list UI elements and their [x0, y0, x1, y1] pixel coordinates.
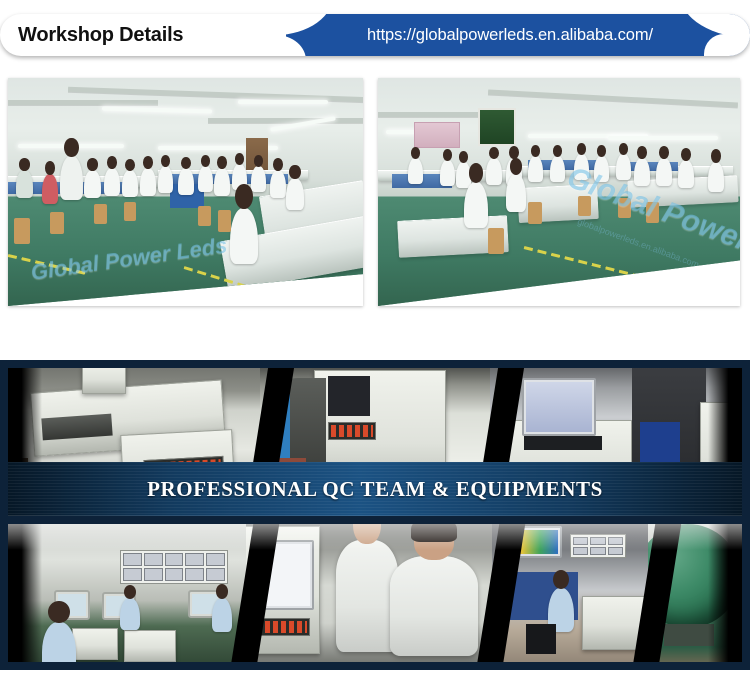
factory-scene-a: Global Power Leds: [8, 78, 363, 306]
store-url-link[interactable]: https://globalpowerleds.en.alibaba.com/: [300, 14, 720, 56]
factory-scene-b: Global Power Leds globalpowerleds.en.ali…: [378, 78, 740, 306]
photo-watermark-a: Global Power Leds: [29, 232, 229, 285]
qc-photo-lab-computers[interactable]: [8, 524, 256, 662]
qc-banner: PROFESSIONAL QC TEAM & EQUIPMENTS: [8, 462, 742, 516]
photo-production-line[interactable]: Global Power Leds: [8, 78, 363, 306]
qc-banner-text: PROFESSIONAL QC TEAM & EQUIPMENTS: [8, 462, 742, 516]
qc-collage-panel: PROFESSIONAL QC TEAM & EQUIPMENTS: [0, 360, 750, 670]
photo-mass-production[interactable]: Global Power Leds globalpowerleds.en.ali…: [378, 78, 740, 306]
workshop-photo-row: Global Power Leds: [0, 78, 750, 348]
collage-left-vignette-bottom: [8, 524, 42, 662]
collage-right-vignette-bottom: [708, 524, 742, 662]
qc-row-lab: [8, 524, 742, 662]
qc-photo-engineers-inspecting[interactable]: [246, 524, 502, 662]
collage-row-divider: [8, 516, 742, 524]
page-header-bar: Workshop Details https://globalpowerleds…: [0, 14, 750, 56]
qc-row-equipment: PROFESSIONAL QC TEAM & EQUIPMENTS: [8, 368, 742, 516]
page-title: Workshop Details: [18, 14, 183, 56]
